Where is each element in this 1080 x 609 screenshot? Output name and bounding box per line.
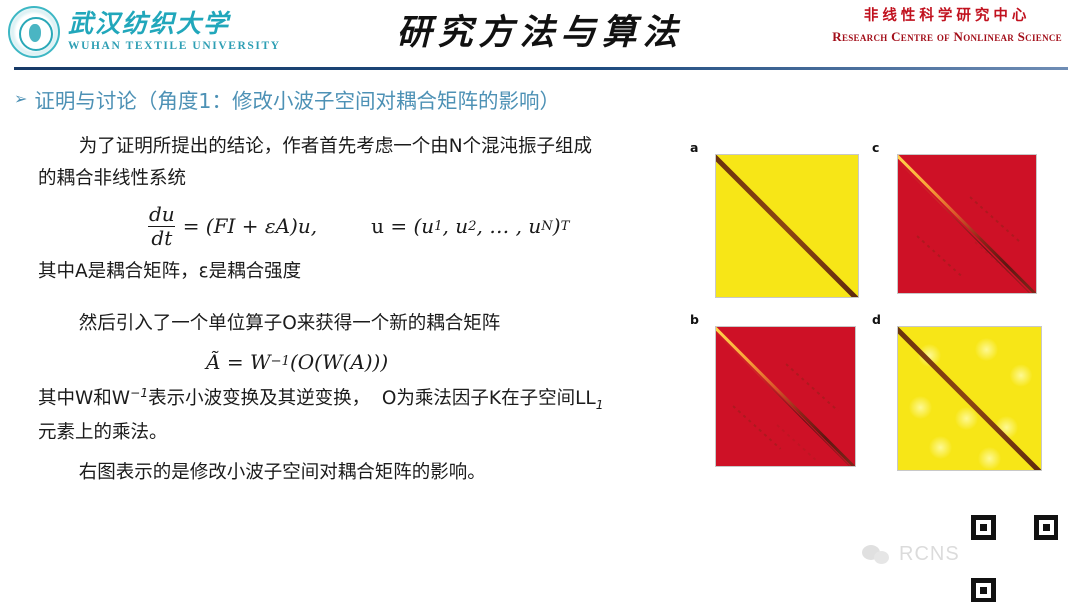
equation-operator-rest: (O(W(A))) xyxy=(290,346,388,378)
header-divider xyxy=(14,67,1068,70)
equation-operator-equals: = xyxy=(227,346,244,378)
qr-code-pattern xyxy=(969,513,1061,605)
matrix-ripple-c-2 xyxy=(917,235,963,277)
matrix-ripple-c-3 xyxy=(975,241,1011,274)
vector-sub-n: N xyxy=(541,216,553,237)
paragraph-4-exponent: −1 xyxy=(130,386,148,400)
panel-label-a: a xyxy=(690,140,698,155)
qr-finder-bottom-left xyxy=(971,578,996,603)
panel-label-b: b xyxy=(690,312,699,327)
slide-header: 武汉纺织大学 WUHAN TEXTILE UNIVERSITY 研究方法与算法 … xyxy=(0,0,1080,68)
vector-equals: = xyxy=(390,210,407,242)
wechat-icon xyxy=(862,544,892,566)
derivative-fraction: du dt xyxy=(146,204,178,249)
vector-close: ) xyxy=(553,210,561,242)
bullet-arrow-icon: ➢ xyxy=(14,91,27,107)
matrix-plot-c xyxy=(897,154,1037,294)
figure-grid: a c b xyxy=(690,140,1068,490)
vector-transpose: T xyxy=(561,216,570,237)
section-subtitle: ➢ 证明与讨论（角度1：修改小波子空间对耦合矩阵的影响） xyxy=(14,84,560,114)
matrix-ripple-b-3 xyxy=(776,425,817,462)
paragraph-1-continued: 的耦合非线性系统 xyxy=(38,164,668,194)
content-text-column: 为了证明所提出的结论，作者首先考虑一个由N个混沌振子组成 的耦合非线性系统 du… xyxy=(38,132,668,488)
paragraph-3: 然后引入了一个单位算子O来获得一个新的耦合矩阵 xyxy=(38,309,668,339)
slide-root: 武汉纺织大学 WUHAN TEXTILE UNIVERSITY 研究方法与算法 … xyxy=(0,0,1080,609)
matrix-plot-b xyxy=(715,326,856,467)
matrix-blob-d-4 xyxy=(909,396,932,419)
matrix-blob-d-2 xyxy=(975,338,998,361)
wechat-watermark: RCNS xyxy=(862,543,960,566)
wechat-bubble-small xyxy=(874,551,889,564)
vector-sub-2: 2 xyxy=(468,216,476,237)
paragraph-4-subscript: 1 xyxy=(596,398,604,412)
paragraph-4-part-a: 其中W和W xyxy=(38,388,130,409)
wechat-bubble-large xyxy=(862,545,880,560)
paragraph-5: 元素上的乘法。 xyxy=(38,418,668,448)
equation-operator-exponent: −1 xyxy=(271,351,290,372)
equation-operator: Ã = W −1 (O(W(A))) xyxy=(38,346,668,378)
fraction-numerator: du xyxy=(146,204,178,226)
paragraph-1: 为了证明所提出的结论，作者首先考虑一个由N个混沌振子组成 xyxy=(38,132,668,162)
research-centre-branding: 非线性科学研究中心 Research Centre of Nonlinear S… xyxy=(832,9,1062,43)
matrix-blob-d-3 xyxy=(1010,364,1033,387)
equation-dynamics-rhs: = (FI + εA)u, xyxy=(183,210,317,242)
matrix-ripple-b-2 xyxy=(732,405,781,449)
matrix-blob-d-7 xyxy=(929,436,952,459)
watermark-label: RCNS xyxy=(899,543,960,566)
vector-symbol: u xyxy=(371,210,384,242)
equation-operator-lhs: Ã xyxy=(206,346,220,378)
wechat-qr-code[interactable] xyxy=(965,509,1065,609)
paragraph-4: 其中W和W−1表示小波变换及其逆变换， O为乘法因子K在子空间LL1 xyxy=(38,384,668,416)
paragraph-6: 右图表示的是修改小波子空间对耦合矩阵的影响。 xyxy=(38,458,668,488)
panel-label-d: d xyxy=(872,312,881,327)
paragraph-2: 其中A是耦合矩阵，ε是耦合强度 xyxy=(38,257,668,287)
fraction-denominator: dt xyxy=(148,226,175,249)
equation-dynamics: du dt = (FI + εA)u, u = (u 1 , u 2 , … ,… xyxy=(38,204,668,249)
qr-finder-top-left xyxy=(971,515,996,540)
centre-name-cn: 非线性科学研究中心 xyxy=(832,9,1062,24)
equation-operator-w: W xyxy=(250,346,271,378)
centre-name-en: Research Centre of Nonlinear Science xyxy=(832,30,1062,43)
matrix-blob-d-8 xyxy=(978,447,1001,470)
vector-comma-2: , … , u xyxy=(477,210,542,242)
matrix-diagonal-b xyxy=(715,326,856,467)
qr-quiet-zone-right xyxy=(1058,513,1061,605)
matrix-plot-a xyxy=(715,154,859,298)
spacer-1 xyxy=(38,287,668,309)
qr-finder-top-right xyxy=(1034,515,1059,540)
paragraph-4-part-b: 表示小波变换及其逆变换， xyxy=(148,388,370,409)
matrix-plot-d xyxy=(897,326,1042,471)
vector-comma-1: , u xyxy=(443,210,469,242)
vector-sub-1: 1 xyxy=(434,216,442,237)
section-subtitle-text: 证明与讨论（角度1：修改小波子空间对耦合矩阵的影响） xyxy=(34,84,560,114)
matrix-diagonal-a xyxy=(715,154,859,298)
vector-open: (u xyxy=(413,210,434,242)
qr-quiet-zone-bottom xyxy=(969,602,1061,605)
panel-label-c: c xyxy=(872,140,879,155)
paragraph-4-part-c: O为乘法因子K在子空间LL xyxy=(382,388,596,409)
spacer-2 xyxy=(38,448,668,458)
matrix-diagonal-c xyxy=(897,154,1037,294)
